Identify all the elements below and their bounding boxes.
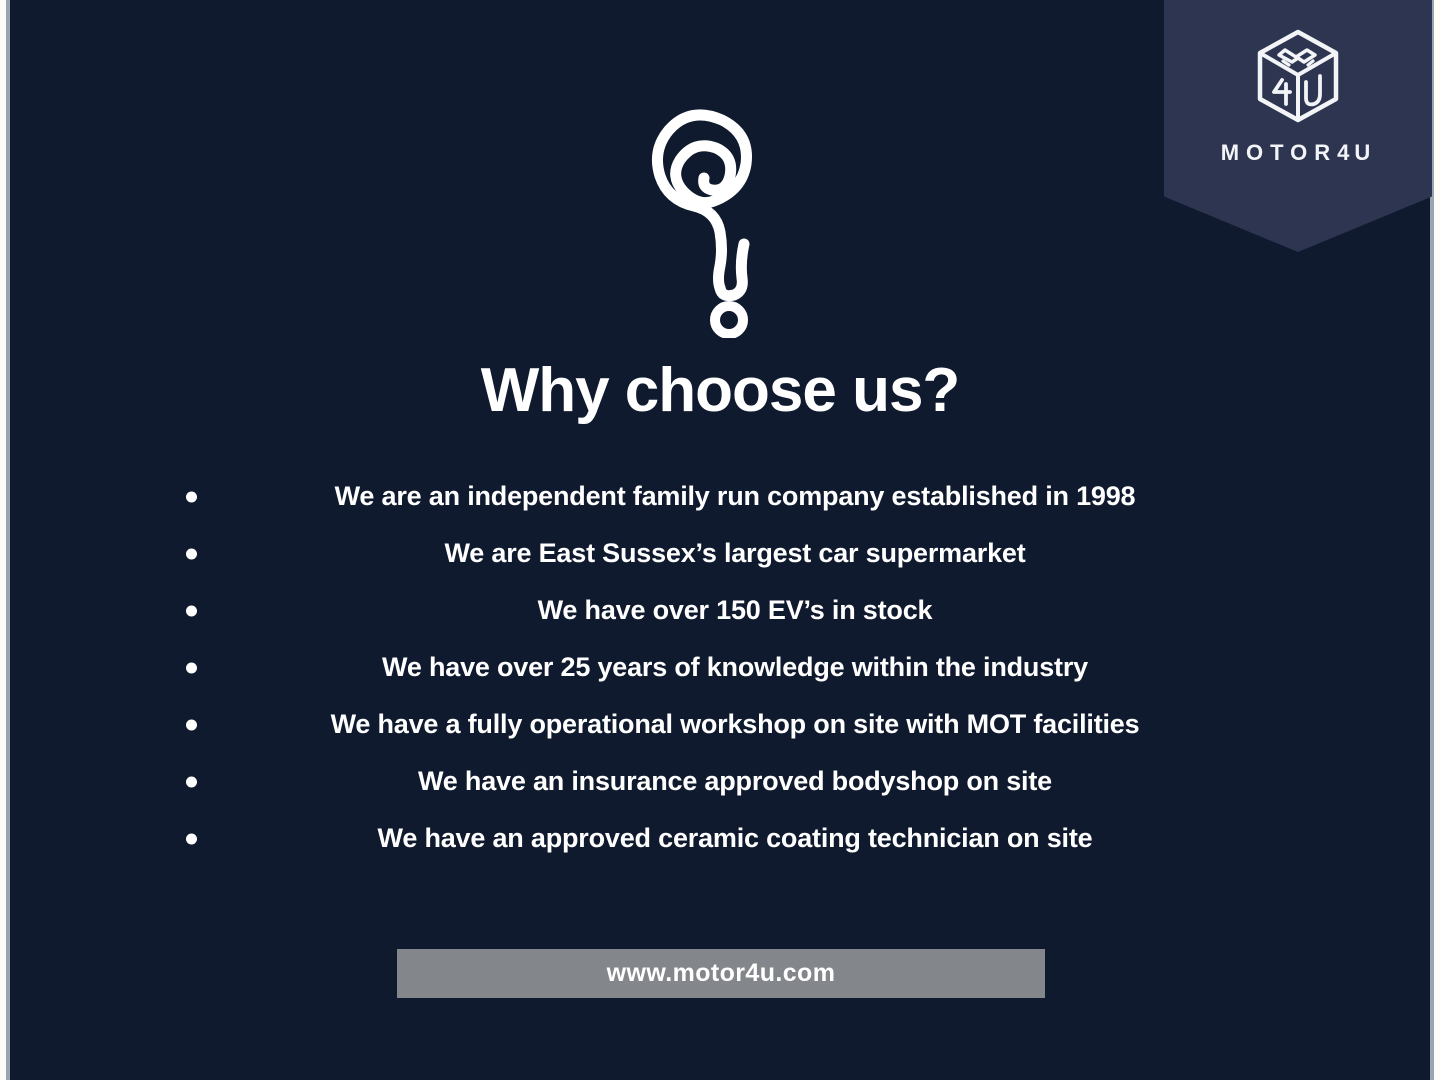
bullet-dot-icon — [186, 719, 197, 730]
list-item: We have an insurance approved bodyshop o… — [0, 753, 1440, 810]
bullet-dot-icon — [186, 776, 197, 787]
list-item-label: We have an insurance approved bodyshop o… — [388, 766, 1052, 797]
benefits-list: We are an independent family run company… — [0, 468, 1440, 867]
list-item-label: We have over 150 EV’s in stock — [508, 595, 933, 626]
brand-wordmark: MOTOR4U — [1164, 140, 1432, 166]
list-item: We have a fully operational workshop on … — [0, 696, 1440, 753]
list-item-label: We have an approved ceramic coating tech… — [348, 823, 1093, 854]
list-item: We have an approved ceramic coating tech… — [0, 810, 1440, 867]
brand-banner: MOTOR4U — [1164, 0, 1432, 252]
list-item: We have over 25 years of knowledge withi… — [0, 639, 1440, 696]
question-mark-icon — [650, 98, 795, 338]
bullet-dot-icon — [186, 548, 197, 559]
bullet-dot-icon — [186, 605, 197, 616]
list-item: We have over 150 EV’s in stock — [0, 582, 1440, 639]
motor4u-cube-logo-icon — [1252, 26, 1344, 126]
list-item-label: We are East Sussex’s largest car superma… — [414, 538, 1025, 569]
website-url-bar[interactable]: www.motor4u.com — [397, 949, 1045, 998]
list-item-label: We are an independent family run company… — [305, 481, 1136, 512]
list-item: We are East Sussex’s largest car superma… — [0, 525, 1440, 582]
bullet-dot-icon — [186, 833, 197, 844]
brand-wordmark-main: MOTOR — [1221, 140, 1337, 165]
bullet-dot-icon — [186, 491, 197, 502]
page-title: Why choose us? — [0, 355, 1440, 426]
list-item: We are an independent family run company… — [0, 468, 1440, 525]
website-url-label: www.motor4u.com — [607, 959, 836, 988]
list-item-label: We have over 25 years of knowledge withi… — [352, 652, 1088, 683]
brand-wordmark-suffix: 4U — [1337, 140, 1375, 165]
slide-canvas: MOTOR4U Why choose us? We are an indepen… — [0, 0, 1440, 1080]
list-item-label: We have a fully operational workshop on … — [301, 709, 1140, 740]
bullet-dot-icon — [186, 662, 197, 673]
